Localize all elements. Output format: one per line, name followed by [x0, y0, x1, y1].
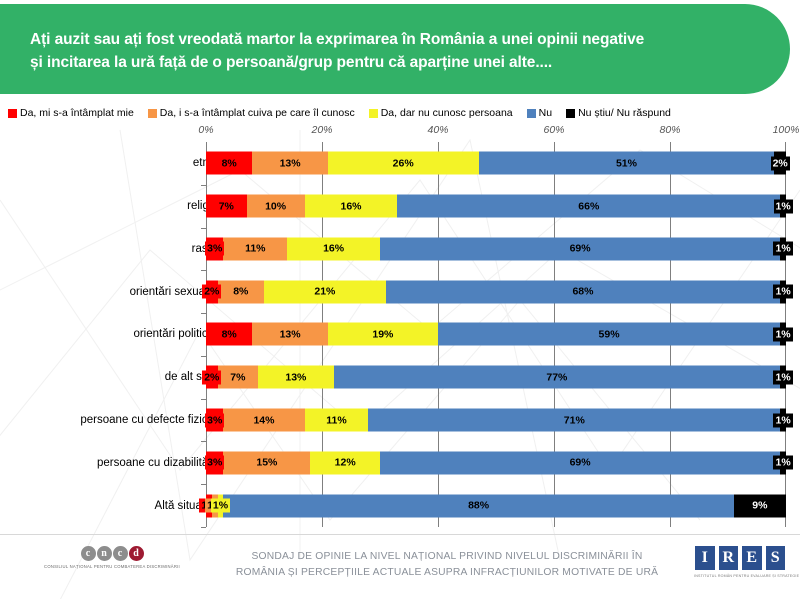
- legend-item[interactable]: Da, mi s-a întâmplat mie: [8, 107, 134, 119]
- ires-logo-boxes: IRES: [694, 545, 786, 571]
- bar-segment-value-label: 1%: [773, 456, 792, 470]
- ires-logo-letter: R: [718, 545, 740, 571]
- bar-segment[interactable]: 59%: [438, 323, 780, 346]
- bar-segment[interactable]: 1%: [780, 409, 786, 432]
- chart-bar-rows: etnii8%13%26%51%2%religii7%10%16%66%1%ra…: [0, 142, 800, 527]
- bar-segment[interactable]: 15%: [223, 451, 310, 474]
- chart-bar-row: Altă situație1%1%1%88%9%: [0, 484, 800, 527]
- bar-segment[interactable]: 71%: [368, 409, 780, 432]
- bar-segment[interactable]: 3%: [206, 237, 223, 260]
- bar-segment-value-label: 7%: [217, 199, 236, 213]
- bar-segment-value-label: 7%: [228, 370, 247, 384]
- bar-segment[interactable]: 1%: [780, 237, 786, 260]
- bar-segment-value-label: 2%: [202, 370, 221, 384]
- bar-segment-value-label: 8%: [220, 156, 239, 170]
- bar-segment-value-label: 1%: [773, 327, 792, 341]
- bar-segment-value-label: 10%: [263, 199, 288, 213]
- page-title-line-2: și incitarea la ură față de o persoană/g…: [30, 51, 760, 74]
- legend-swatch-icon: [148, 109, 157, 118]
- legend-item-label: Nu știu/ Nu răspund: [578, 107, 671, 119]
- cncd-logo-letter: n: [97, 546, 112, 561]
- bar-segment-value-label: 3%: [205, 413, 224, 427]
- ires-logo-letter: S: [765, 545, 787, 571]
- bar-segment-value-label: 13%: [278, 327, 303, 341]
- bar-segment[interactable]: 13%: [252, 323, 327, 346]
- chart-bar-row: orientări sexuale2%8%21%68%1%: [0, 270, 800, 313]
- footer-caption: SONDAJ DE OPINIE LA NIVEL NAȚIONAL PRIVI…: [222, 549, 672, 581]
- legend-swatch-icon: [8, 109, 17, 118]
- bar-segment[interactable]: 12%: [310, 451, 380, 474]
- bar-segment[interactable]: 8%: [206, 152, 252, 175]
- bar-segment[interactable]: 88%: [223, 494, 733, 517]
- bar-segment-value-label: 88%: [466, 499, 491, 513]
- page-title-line-1: Ați auzit sau ați fost vreodată martor l…: [30, 31, 644, 48]
- bar-segment[interactable]: 21%: [264, 280, 386, 303]
- bar-segment-value-label: 3%: [205, 456, 224, 470]
- chart-plot-area: 0%20%40%60%80%100% etnii8%13%26%51%2%rel…: [0, 124, 800, 534]
- bar-segment[interactable]: 19%: [328, 323, 438, 346]
- bar-segment[interactable]: 1%: [780, 280, 786, 303]
- legend-item[interactable]: Nu știu/ Nu răspund: [566, 107, 671, 119]
- bar-segment[interactable]: 66%: [397, 195, 780, 218]
- chart-bar-row: etnii8%13%26%51%2%: [0, 142, 800, 185]
- bar-segment[interactable]: 2%: [206, 366, 218, 389]
- bar-segment-value-label: 1%: [773, 285, 792, 299]
- bar-segment-value-label: 12%: [333, 456, 358, 470]
- y-axis-tickmark: [201, 527, 206, 528]
- x-axis-tick-label: 60%: [543, 124, 564, 136]
- cncd-logo-letter: c: [81, 546, 96, 561]
- bar-segment[interactable]: 69%: [380, 237, 780, 260]
- chart-bar-row: de alt sex2%7%13%77%1%: [0, 356, 800, 399]
- legend-item[interactable]: Nu: [527, 107, 552, 119]
- cncd-logo-circles: cncd: [28, 546, 196, 561]
- bar-segment[interactable]: 7%: [206, 195, 247, 218]
- ires-logo-caption: INSTITUTUL ROMÂN PENTRU EVALUARE ȘI STRA…: [694, 574, 786, 578]
- bar-segment-value-label: 59%: [597, 327, 622, 341]
- cncd-logo-letter: d: [129, 546, 144, 561]
- stacked-bar: 7%10%16%66%1%: [206, 195, 786, 218]
- footer-caption-line-2: ROMÂNIA ȘI PERCEPȚIILE ACTUALE ASUPRA IN…: [222, 565, 672, 581]
- bar-segment[interactable]: 13%: [252, 152, 327, 175]
- footer-caption-line-1: SONDAJ DE OPINIE LA NIVEL NAȚIONAL PRIVI…: [251, 551, 642, 562]
- stacked-bar: 8%13%26%51%2%: [206, 152, 786, 175]
- bar-segment[interactable]: 14%: [223, 409, 304, 432]
- legend-swatch-icon: [566, 109, 575, 118]
- bar-segment[interactable]: 1%: [780, 366, 786, 389]
- bar-segment-value-label: 69%: [568, 456, 593, 470]
- legend-swatch-icon: [369, 109, 378, 118]
- bar-segment[interactable]: 1%: [780, 451, 786, 474]
- header-banner: Ați auzit sau ați fost vreodată martor l…: [0, 4, 790, 94]
- bar-segment[interactable]: 3%: [206, 451, 223, 474]
- chart-bar-row: religii7%10%16%66%1%: [0, 185, 800, 228]
- chart-bar-row: persoane cu defecte fizice3%14%11%71%1%: [0, 399, 800, 442]
- bar-segment-value-label: 9%: [750, 499, 769, 513]
- x-axis-tick-label: 80%: [659, 124, 680, 136]
- bar-segment[interactable]: 68%: [386, 280, 780, 303]
- bar-segment[interactable]: 8%: [218, 280, 264, 303]
- bar-segment[interactable]: 8%: [206, 323, 252, 346]
- x-axis-tick-label: 100%: [773, 124, 800, 136]
- page-title: Ați auzit sau ați fost vreodată martor l…: [30, 28, 760, 74]
- bar-segment[interactable]: 11%: [305, 409, 369, 432]
- bar-segment[interactable]: 13%: [258, 366, 333, 389]
- bar-segment[interactable]: 77%: [334, 366, 781, 389]
- chart-bar-row: persoane cu dizabilități3%15%12%69%1%: [0, 441, 800, 484]
- bar-segment-value-label: 1%: [773, 413, 792, 427]
- cncd-logo-letter: c: [113, 546, 128, 561]
- bar-segment-value-label: 15%: [254, 456, 279, 470]
- bar-segment[interactable]: 2%: [206, 280, 218, 303]
- bar-segment-value-label: 26%: [391, 156, 416, 170]
- bar-segment-value-label: 1%: [774, 199, 793, 213]
- bar-segment[interactable]: 26%: [328, 152, 479, 175]
- stacked-bar: 3%11%16%69%1%: [206, 237, 786, 260]
- bar-segment-value-label: 2%: [771, 156, 790, 170]
- bar-segment[interactable]: 1%: [780, 323, 786, 346]
- footer: cncd CONSILIUL NAȚIONAL PENTRU COMBATERE…: [0, 534, 800, 600]
- bar-segment[interactable]: 69%: [380, 451, 780, 474]
- bar-segment-value-label: 19%: [370, 327, 395, 341]
- stacked-bar: 3%15%12%69%1%: [206, 451, 786, 474]
- bar-segment[interactable]: 10%: [247, 195, 305, 218]
- chart-bar-row: rase3%11%16%69%1%: [0, 228, 800, 271]
- bar-segment[interactable]: 11%: [223, 237, 287, 260]
- bar-segment[interactable]: 51%: [479, 152, 775, 175]
- category-label: orientări politice: [133, 328, 214, 340]
- legend-item-label: Da, dar nu cunosc persoana: [381, 107, 513, 119]
- bar-segment-value-label: 66%: [576, 199, 601, 213]
- bar-segment[interactable]: 2%: [774, 152, 786, 175]
- bar-segment-value-label: 1%: [773, 242, 792, 256]
- chart-legend: Da, mi s-a întâmplat mieDa, i s-a întâmp…: [8, 104, 798, 122]
- ires-logo: IRES INSTITUTUL ROMÂN PENTRU EVALUARE ȘI…: [694, 545, 786, 578]
- ires-logo-letter: E: [741, 545, 763, 571]
- bar-segment-value-label: 11%: [243, 242, 267, 256]
- bar-segment-value-label: 16%: [321, 242, 346, 256]
- bar-segment[interactable]: 7%: [218, 366, 259, 389]
- legend-item[interactable]: Da, i s-a întâmplat cuiva pe care îl cun…: [148, 107, 355, 119]
- category-label: persoane cu defecte fizice: [80, 414, 214, 426]
- bar-segment[interactable]: 3%: [206, 409, 223, 432]
- stacked-bar: 2%7%13%77%1%: [206, 366, 786, 389]
- bar-segment-value-label: 13%: [278, 156, 303, 170]
- legend-item-label: Da, mi s-a întâmplat mie: [20, 107, 134, 119]
- bar-segment-value-label: 1%: [773, 370, 792, 384]
- stacked-bar: 3%14%11%71%1%: [206, 409, 786, 432]
- bar-segment-value-label: 14%: [251, 413, 276, 427]
- cncd-logo: cncd CONSILIUL NAȚIONAL PENTRU COMBATERE…: [28, 546, 196, 569]
- chart-bar-row: orientări politice8%13%19%59%1%: [0, 313, 800, 356]
- bar-segment-value-label: 13%: [283, 370, 308, 384]
- bar-segment-value-label: 8%: [231, 285, 250, 299]
- stacked-bar: 1%1%1%88%9%: [206, 494, 786, 517]
- bar-segment[interactable]: 16%: [305, 195, 398, 218]
- x-axis-tick-label: 20%: [311, 124, 332, 136]
- bar-segment[interactable]: 1%: [780, 195, 786, 218]
- x-axis-tick-label: 0%: [198, 124, 213, 136]
- bar-segment-value-label: 11%: [324, 413, 348, 427]
- bar-segment-value-label: 68%: [570, 285, 595, 299]
- bar-segment-value-label: 69%: [568, 242, 593, 256]
- bar-segment[interactable]: 16%: [287, 237, 380, 260]
- x-axis-tick-labels: 0%20%40%60%80%100%: [206, 124, 786, 140]
- bar-segment-value-label: 1%: [211, 499, 230, 513]
- bar-segment-value-label: 2%: [202, 285, 221, 299]
- stacked-bar: 2%8%21%68%1%: [206, 280, 786, 303]
- bar-segment-value-label: 16%: [338, 199, 363, 213]
- bar-segment-value-label: 21%: [312, 285, 337, 299]
- bar-segment[interactable]: 9%: [734, 494, 786, 517]
- bar-segment-value-label: 3%: [205, 242, 224, 256]
- category-label: persoane cu dizabilități: [97, 457, 214, 469]
- cncd-logo-caption: CONSILIUL NAȚIONAL PENTRU COMBATEREA DIS…: [28, 564, 196, 569]
- bar-segment-value-label: 77%: [544, 370, 569, 384]
- bar-segment-value-label: 8%: [220, 327, 239, 341]
- stacked-bar: 8%13%19%59%1%: [206, 323, 786, 346]
- bar-segment-value-label: 71%: [562, 413, 587, 427]
- legend-item-label: Nu: [539, 107, 552, 119]
- legend-item-label: Da, i s-a întâmplat cuiva pe care îl cun…: [160, 107, 355, 119]
- legend-swatch-icon: [527, 109, 536, 118]
- bar-segment-value-label: 51%: [614, 156, 639, 170]
- x-axis-tick-label: 40%: [427, 124, 448, 136]
- legend-item[interactable]: Da, dar nu cunosc persoana: [369, 107, 513, 119]
- ires-logo-letter: I: [694, 545, 716, 571]
